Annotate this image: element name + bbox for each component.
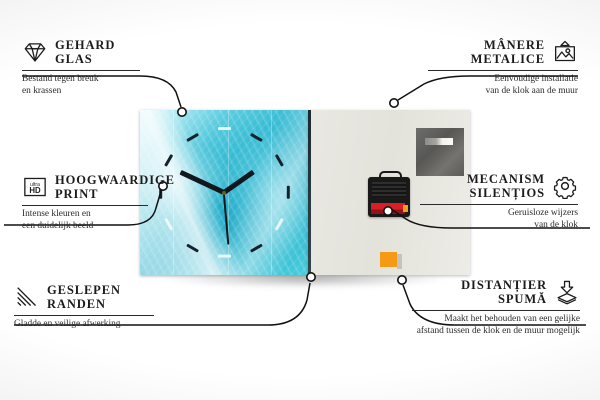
diamond-icon — [22, 39, 48, 65]
feature-header: GESLEPEN RANDEN — [14, 283, 174, 311]
feature-rule — [428, 70, 578, 71]
beveled-edges-icon — [14, 284, 40, 310]
feature-title: HOOGWAARDIGE PRINT — [55, 173, 175, 201]
spacer-press-icon — [554, 279, 580, 305]
feature-header: MECANISM SILENȚIOS — [420, 172, 578, 200]
feature-subtitle: Bestand tegen breuk en krassen — [22, 74, 172, 97]
panel-seam — [271, 110, 272, 275]
mechanism-body — [372, 182, 406, 197]
infographic-canvas: GEHARD GLAS Bestand tegen breuk en krass… — [0, 0, 600, 400]
clock-pivot — [222, 191, 226, 195]
feature-title: GESLEPEN RANDEN — [47, 283, 121, 311]
feature-header: GEHARD GLAS — [22, 38, 172, 66]
svg-text:HD: HD — [29, 186, 41, 195]
feature-rule — [14, 315, 154, 316]
battery — [371, 203, 405, 214]
feature-hoogwaardige-print: ultra HD HOOGWAARDIGE PRINT Intense kleu… — [22, 173, 182, 232]
feature-gehard-glas: GEHARD GLAS Bestand tegen breuk en krass… — [22, 38, 172, 97]
feature-subtitle: Intense kleuren en een duidelijk beeld — [22, 209, 182, 232]
feature-header: MÂNERE METALICE — [428, 38, 578, 66]
feature-rule — [22, 70, 140, 71]
gear-icon — [552, 173, 578, 199]
feature-manere-metalice: MÂNERE METALICE Eenvoudige installatie v… — [428, 38, 578, 97]
feature-mecanism-silentios: MECANISM SILENȚIOS Geruisloze wijzers va… — [420, 172, 578, 231]
feature-distantier-spuma: DISTANȚIER SPUMĂ Maakt het behouden van … — [412, 278, 580, 337]
feature-subtitle: Geruisloze wijzers van de klok — [420, 208, 578, 231]
feature-rule — [22, 205, 148, 206]
feature-rule — [412, 310, 580, 311]
hanger-slot — [425, 138, 453, 145]
feature-title: MÂNERE METALICE — [471, 38, 545, 66]
leader-dot-manere-metalice — [390, 99, 398, 107]
feature-header: ultra HD HOOGWAARDIGE PRINT — [22, 173, 182, 201]
feature-title: GEHARD GLAS — [55, 38, 115, 66]
clock-tick — [218, 255, 231, 258]
feature-header: DISTANȚIER SPUMĂ — [412, 278, 580, 306]
feature-geslepen-randen: GESLEPEN RANDEN Gladde en veilige afwerk… — [14, 283, 174, 331]
feature-subtitle: Gladde en veilige afwerking — [14, 319, 174, 331]
foam-spacer — [380, 252, 397, 267]
feature-title: DISTANȚIER SPUMĂ — [461, 278, 547, 306]
feature-rule — [420, 204, 578, 205]
mechanism-hook — [379, 171, 402, 182]
feature-subtitle: Eenvoudige installatie van de klok aan d… — [428, 74, 578, 97]
quartz-mechanism — [368, 177, 410, 217]
metal-hanger-plate — [416, 128, 464, 176]
clock-tick — [218, 127, 231, 130]
picture-frame-icon — [552, 39, 578, 65]
feature-subtitle: Maakt het behouden van een gelijke afsta… — [412, 314, 580, 337]
ultra-hd-icon: ultra HD — [22, 174, 48, 200]
feature-title: MECANISM SILENȚIOS — [467, 172, 545, 200]
clock-tick — [287, 186, 290, 199]
panel-edge — [308, 110, 311, 275]
